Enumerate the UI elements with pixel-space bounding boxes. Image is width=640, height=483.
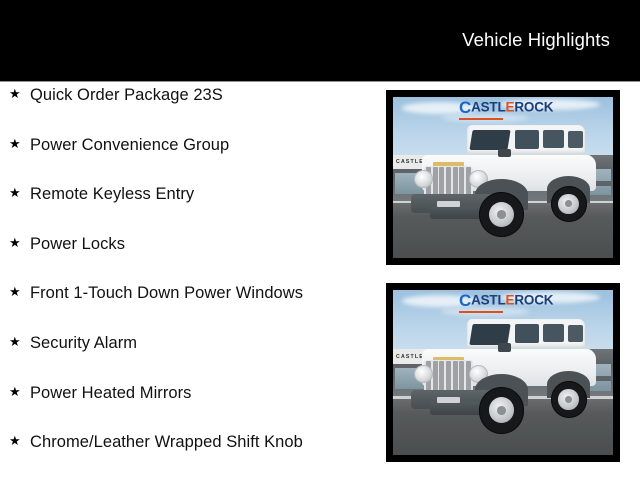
watermark-initial: C	[459, 98, 471, 117]
list-item-label: Remote Keyless Entry	[30, 185, 194, 204]
star-icon: ★	[9, 285, 30, 298]
watermark-underline	[459, 311, 503, 313]
list-item: ★ Chrome/Leather Wrapped Shift Knob	[0, 433, 380, 483]
list-item: ★ Remote Keyless Entry	[0, 185, 380, 235]
page-title: Vehicle Highlights	[462, 29, 610, 51]
watermark-underline	[459, 118, 503, 120]
star-icon: ★	[9, 434, 30, 447]
side-window	[543, 324, 564, 342]
grille-slot	[433, 167, 438, 196]
wheel-rim	[489, 202, 514, 227]
front-wheel	[479, 192, 524, 237]
watermark-tail: ROCK	[514, 100, 553, 115]
watermark-middle: ASTL	[471, 100, 505, 115]
wheel-rim	[558, 389, 578, 410]
license-plate	[437, 201, 460, 207]
grille-slot	[433, 361, 438, 391]
rear-wheel	[551, 186, 587, 222]
castle-rock-watermark: CASTLEROCK	[459, 292, 553, 309]
grille-slot	[446, 361, 451, 391]
star-icon: ★	[9, 186, 30, 199]
jeep-wrangler-vehicle	[411, 316, 600, 438]
list-item: ★ Front 1-Touch Down Power Windows	[0, 284, 380, 334]
side-window	[543, 130, 564, 148]
front-wheel	[479, 387, 524, 433]
list-item-label: Power Heated Mirrors	[30, 384, 191, 403]
vehicle-photo-1: CASTLE RO	[393, 97, 613, 258]
side-window	[515, 324, 540, 344]
jeep-wrangler-vehicle	[411, 123, 600, 242]
windshield	[470, 130, 511, 150]
list-item-label: Power Convenience Group	[30, 136, 229, 155]
side-mirror	[498, 149, 511, 157]
watermark-tail: ROCK	[514, 293, 553, 308]
list-item: ★ Power Heated Mirrors	[0, 384, 380, 434]
side-window	[515, 130, 540, 149]
star-icon: ★	[9, 385, 30, 398]
list-item-label: Power Locks	[30, 235, 125, 254]
grille-slot	[453, 167, 458, 196]
grille-slot	[446, 167, 451, 196]
star-icon: ★	[9, 335, 30, 348]
license-plate	[437, 397, 460, 403]
windshield	[469, 324, 510, 345]
star-icon: ★	[9, 87, 30, 100]
side-window	[568, 131, 583, 148]
header-banner: Vehicle Highlights	[0, 0, 640, 81]
list-item: ★ Security Alarm	[0, 334, 380, 384]
watermark-middle: ASTL	[471, 293, 505, 308]
list-item-label: Front 1-Touch Down Power Windows	[30, 284, 303, 303]
header-divider	[0, 81, 640, 82]
list-item-label: Quick Order Package 23S	[30, 86, 223, 105]
grille-slot	[439, 167, 444, 196]
vehicle-highlights-list: ★ Quick Order Package 23S ★ Power Conven…	[0, 86, 380, 483]
rear-wheel	[551, 381, 587, 418]
star-icon: ★	[9, 236, 30, 249]
vehicle-photo-frame-1[interactable]: CASTLE RO	[386, 90, 620, 265]
castle-rock-watermark: CASTLEROCK	[459, 99, 553, 116]
list-item-label: Security Alarm	[30, 334, 137, 353]
vehicle-photo-frame-2[interactable]: CASTLE RO	[386, 283, 620, 462]
watermark-initial: C	[459, 291, 471, 310]
side-mirror	[498, 343, 511, 352]
list-item: ★ Power Convenience Group	[0, 136, 380, 186]
grille-slot	[453, 361, 458, 391]
side-window	[568, 325, 583, 342]
list-item: ★ Power Locks	[0, 235, 380, 285]
grille-slot	[459, 361, 464, 391]
grille-slot	[439, 361, 444, 391]
vehicle-photo-2: CASTLE RO	[393, 290, 613, 455]
wheel-rim	[489, 397, 514, 423]
list-item-label: Chrome/Leather Wrapped Shift Knob	[30, 433, 303, 452]
wheel-rim	[558, 194, 578, 214]
list-item: ★ Quick Order Package 23S	[0, 86, 380, 136]
grille-slot	[459, 167, 464, 196]
star-icon: ★	[9, 137, 30, 150]
